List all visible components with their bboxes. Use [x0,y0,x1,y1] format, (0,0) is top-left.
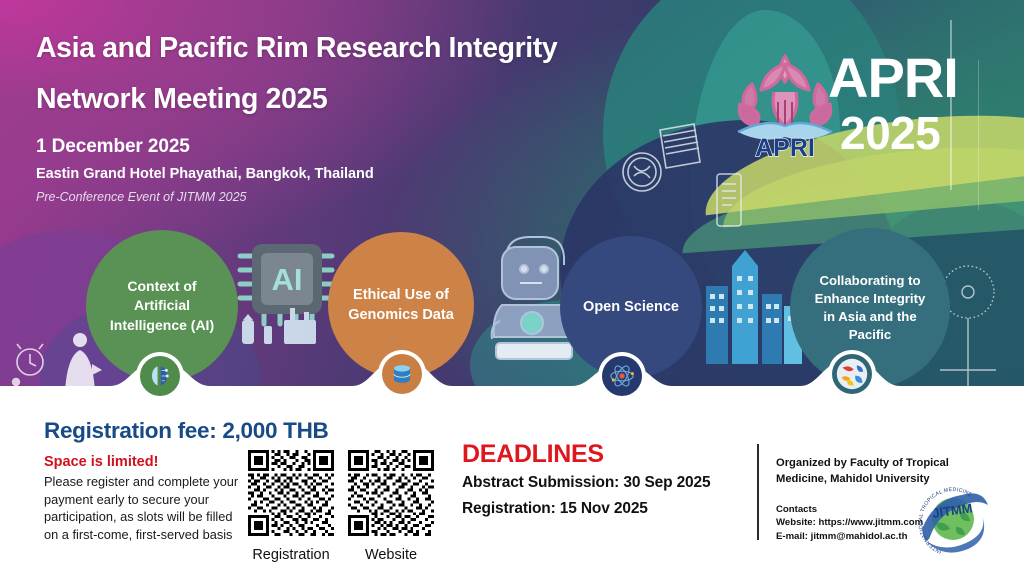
registration-instructions: Please register and complete your paymen… [44,473,244,543]
topic-collab-line-2: Enhance Integrity [815,290,926,308]
conference-poster: AI [0,0,1024,579]
topic-open-science-line-1: Open Science [583,297,679,317]
ai-brain-head-icon [144,360,176,392]
svg-text:APRI: APRI [755,134,815,162]
contact-website[interactable]: Website: https://www.jitmm.com [776,516,923,530]
contact-email[interactable]: E-mail: jitmm@mahidol.ac.th [776,530,923,544]
topic-collab-line-3: in Asia and the [815,308,926,326]
topic-ai-line-1: Context of [110,277,214,296]
puzzle-hands-icon [836,358,868,390]
registration-fee-heading: Registration fee: 2,000 THB [44,418,328,444]
atom-icon [606,360,638,392]
contacts-details: Website: https://www.jitmm.com E-mail: j… [776,516,923,544]
jitmm-globe-logo-icon: JITMM INTERNATIONAL TROPICAL MEDICINE [916,485,990,559]
vertical-divider [757,444,759,540]
svg-text:AI: AI [272,262,303,297]
badge-atom-icon [602,356,642,396]
space-limited-alert: Space is limited! [44,454,158,470]
poster-title-line-2: Network Meeting 2025 [36,85,557,114]
bottom-info-section: Registration fee: 2,000 THB Space is lim… [0,400,1024,579]
ai-chip-illustration: AI [232,228,342,348]
topic-genomics-line-2: Genomics Data [348,305,454,325]
database-icon [386,358,418,390]
poster-title-line-1: Asia and Pacific Rim Research Integrity [36,34,557,63]
topic-ai-line-3: Intelligence (AI) [110,316,214,335]
qr-registration-label: Registration [248,547,334,563]
apri-acronym: APRI [828,50,958,106]
deadline-abstract-submission: Abstract Submission: 30 Sep 2025 [462,474,710,492]
pre-conference-note: Pre-Conference Event of JITMM 2025 [36,190,557,204]
apri-lotus-logo-icon: APRI [730,46,840,164]
vertical-rule-right-2 [978,60,979,210]
topic-genomics-line-1: Ethical Use of [348,285,454,305]
topic-ai-line-2: Artificial [110,296,214,315]
contacts-heading: Contacts [776,504,817,515]
deadline-registration: Registration: 15 Nov 2025 [462,500,648,518]
deadlines-title: DEADLINES [462,440,604,469]
header-text-block: Asia and Pacific Rim Research Integrity … [36,34,557,204]
event-date: 1 December 2025 [36,136,557,158]
qr-website-block[interactable]: Website [348,450,434,563]
badge-ai-brain-head-icon [140,356,180,396]
qr-code-icon[interactable] [248,450,334,536]
apri-year: 2025 [840,110,940,156]
badge-database-icon [382,354,422,394]
organized-by-text: Organized by Faculty of Tropical Medicin… [776,456,976,488]
badge-puzzle-hands-icon [832,354,872,394]
event-venue: Eastin Grand Hotel Phayathai, Bangkok, T… [36,166,557,182]
qr-website-label: Website [348,547,434,563]
qr-registration-block[interactable]: Registration [248,450,334,563]
qr-code-icon[interactable] [348,450,434,536]
topic-collab-line-1: Collaborating to [815,272,926,290]
device-line-icon [705,170,755,230]
